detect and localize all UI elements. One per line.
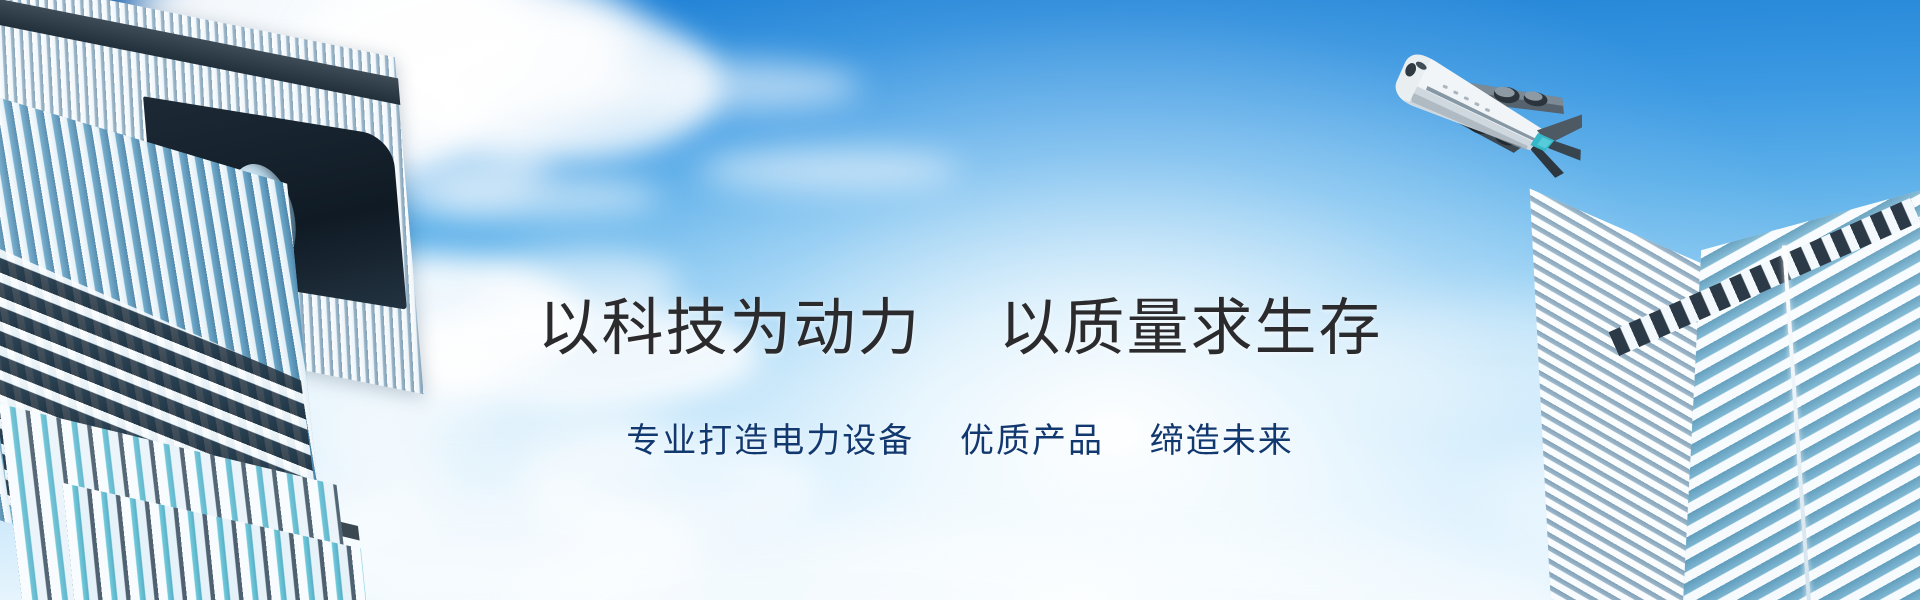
banner-headline: 以科技为动力 以质量求生存	[0, 298, 1920, 360]
hero-banner: 以科技为动力 以质量求生存 专业打造电力设备 优质产品 缔造未来	[0, 0, 1920, 600]
cloud-shape	[420, 175, 660, 219]
cloud-shape	[700, 150, 960, 190]
airplane-icon	[1352, 8, 1582, 208]
cloud-shape	[560, 60, 860, 112]
right-skyscraper	[1530, 190, 1920, 600]
banner-subheadline: 专业打造电力设备 优质产品 缔造未来	[0, 424, 1920, 458]
